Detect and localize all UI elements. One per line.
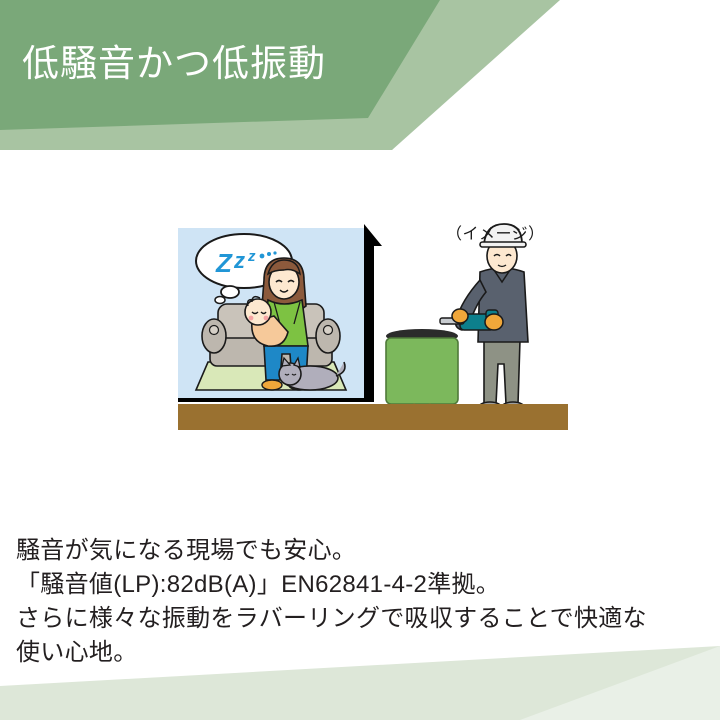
- outdoor-scene: [386, 224, 528, 416]
- worker-glove-right: [485, 314, 503, 330]
- indoor-scene: Z z z: [178, 228, 364, 402]
- hedge: [386, 329, 458, 416]
- svg-text:z: z: [247, 248, 256, 265]
- worker-pants: [484, 340, 520, 404]
- page-title: 低騒音かつ低振動: [22, 40, 326, 88]
- body-line-2: 「騒音値(LP):82dB(A)」EN62841-4-2準拠。: [16, 568, 716, 602]
- body-line-3: さらに様々な振動をラバーリングで吸収することで快適な: [16, 602, 716, 636]
- ground-bar: [178, 404, 568, 430]
- slide-page: 低騒音かつ低振動: [0, 0, 720, 720]
- header-banner: 低騒音かつ低振動: [0, 0, 720, 150]
- illustration-artwork: Z z z: [168, 214, 568, 440]
- svg-text:z: z: [233, 248, 245, 273]
- image-caption: （イメージ）: [446, 220, 545, 244]
- body-text-block: 騒音が気になる現場でも安心。 「騒音値(LP):82dB(A)」EN62841-…: [16, 534, 716, 670]
- worker-glove-left: [452, 309, 468, 323]
- body-line-1: 騒音が気になる現場でも安心。: [16, 534, 716, 568]
- worker-jacket: [478, 268, 528, 342]
- body-line-4: 使い心地。: [16, 636, 716, 670]
- hedge-body: [386, 338, 458, 404]
- zzz-text: Z: [215, 248, 233, 278]
- product-illustration: Z z z: [168, 214, 568, 440]
